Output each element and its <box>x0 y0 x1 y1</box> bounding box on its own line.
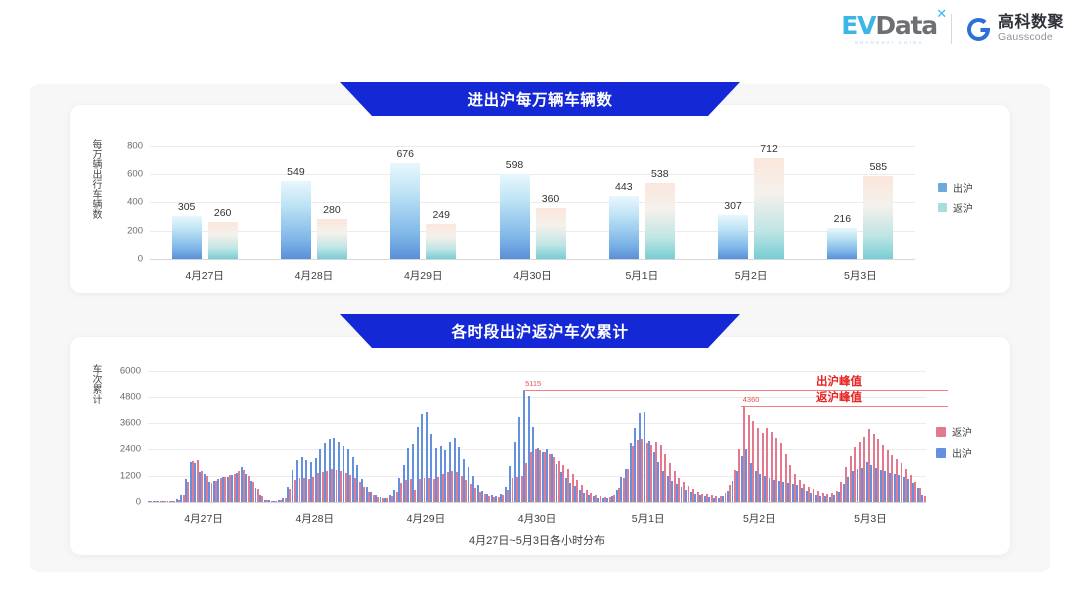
legend-label: 返沪 <box>953 200 973 215</box>
bar-chuhu <box>827 228 857 259</box>
bar-fanhu <box>536 208 566 259</box>
legend-label: 出沪 <box>952 445 972 460</box>
bar-chuhu <box>172 216 202 259</box>
chart-title-banner-bottom: 各时段出沪返沪车次累计 <box>340 314 740 348</box>
y-axis-label-top: 每万辆出行车辆数 <box>88 139 103 257</box>
x-tick-label-top: 5月3日 <box>844 268 877 283</box>
bar-fanhu <box>208 222 238 259</box>
x-tick-label-bottom: 4月29日 <box>407 511 446 526</box>
evdata-logo: EVData ✕ shanghai china <box>841 13 937 45</box>
legend-swatch <box>936 427 946 437</box>
evdata-ev-text: EV <box>841 11 875 40</box>
bar-fanhu <box>317 219 347 259</box>
x-axis-subtitle: 4月27日~5月3日各小时分布 <box>469 532 605 548</box>
peak-line-chuhu <box>523 390 948 391</box>
bar-value-chuhu: 305 <box>178 201 196 213</box>
bar-value-chuhu: 598 <box>506 159 524 171</box>
bar-value-fanhu: 585 <box>870 161 888 173</box>
chart-title-top: 进出沪每万辆车辆数 <box>468 88 613 110</box>
bar-fanhu <box>645 183 675 259</box>
legend-label: 出沪 <box>953 180 973 195</box>
y-tick-label-bottom: 0 <box>136 497 141 508</box>
legend-item-bottom[interactable]: 返沪 <box>936 424 972 439</box>
bar-chuhu <box>500 174 530 259</box>
peak-value-fanhu: 4360 <box>743 395 760 404</box>
bar-chart-bottom: 车次累计0120024003600480060004月27日4月28日4月29日… <box>148 364 926 502</box>
chart-title-banner-top: 进出沪每万辆车辆数 <box>340 82 740 116</box>
bar-value-chuhu: 216 <box>834 213 852 225</box>
y-tick-label-bottom: 2400 <box>120 444 141 455</box>
y-axis-label-bottom: 车次累计 <box>88 364 103 502</box>
bar-value-chuhu: 443 <box>615 181 633 193</box>
legend-item-bottom[interactable]: 出沪 <box>936 445 972 460</box>
x-tick-label-bottom: 4月27日 <box>184 511 223 526</box>
gridline-top <box>150 259 915 260</box>
bar-chart-top: 每万辆出行车辆数02004006008003052604月27日5492804月… <box>150 137 915 259</box>
chart-title-bottom: 各时段出沪返沪车次累计 <box>451 320 628 342</box>
bar-chuhu <box>390 163 420 259</box>
x-tick-label-top: 5月1日 <box>625 268 658 283</box>
peak-label-fanhu: 返沪峰值 <box>816 389 862 405</box>
x-tick-label-bottom: 5月3日 <box>854 511 887 526</box>
bar-value-fanhu: 712 <box>760 143 778 155</box>
y-tick-label-top: 0 <box>138 254 143 265</box>
gridline-bottom <box>148 371 926 372</box>
gridline-bottom <box>148 423 926 424</box>
evdata-x-icon: ✕ <box>936 8 946 21</box>
bar-value-fanhu: 538 <box>651 168 669 180</box>
gauss-c-icon <box>966 17 991 42</box>
gausscode-cn-name: 高科数聚 <box>998 15 1064 32</box>
gridline-top <box>150 202 915 203</box>
x-tick-label-bottom: 4月28日 <box>295 511 334 526</box>
logo-group: EVData ✕ shanghai china 高科数聚 Gausscode <box>841 13 1064 45</box>
legend-bottom: 返沪出沪 <box>936 424 972 460</box>
x-tick-label-bottom: 5月1日 <box>632 511 665 526</box>
x-tick-label-top: 4月28日 <box>295 268 334 283</box>
gridline-bottom <box>148 502 926 503</box>
legend-swatch <box>938 183 947 192</box>
bar-fanhu <box>426 224 456 259</box>
y-tick-label-bottom: 6000 <box>120 365 141 376</box>
bar-fanhu <box>863 176 893 259</box>
legend-swatch <box>938 203 947 212</box>
legend-item-top[interactable]: 出沪 <box>938 180 973 195</box>
y-tick-label-bottom: 3600 <box>120 418 141 429</box>
bar-value-fanhu: 360 <box>542 193 560 205</box>
bar-value-fanhu: 260 <box>214 207 232 219</box>
gausscode-text: 高科数聚 Gausscode <box>998 15 1064 43</box>
legend-top: 出沪返沪 <box>938 180 973 215</box>
x-tick-label-top: 4月29日 <box>404 268 443 283</box>
bar-value-chuhu: 676 <box>396 148 414 160</box>
gridline-top <box>150 174 915 175</box>
legend-label: 返沪 <box>952 424 972 439</box>
x-tick-label-top: 5月2日 <box>735 268 768 283</box>
y-tick-label-top: 400 <box>127 197 143 208</box>
gausscode-en-name: Gausscode <box>998 32 1064 43</box>
gridline-top <box>150 146 915 147</box>
bar-value-fanhu: 280 <box>323 204 341 216</box>
y-tick-label-bottom: 1200 <box>120 470 141 481</box>
x-tick-label-top: 4月27日 <box>185 268 224 283</box>
bar-value-fanhu: 249 <box>432 209 450 221</box>
evdata-data-text: Data <box>875 11 937 40</box>
gridline-bottom <box>148 397 926 398</box>
bar-value-chuhu: 307 <box>724 200 742 212</box>
legend-item-top[interactable]: 返沪 <box>938 200 973 215</box>
x-tick-label-top: 4月30日 <box>513 268 552 283</box>
evdata-wordmark: EVData ✕ <box>841 13 937 38</box>
bar-chuhu <box>718 215 748 259</box>
bar-fanhu <box>754 158 784 259</box>
y-tick-label-top: 800 <box>127 140 143 151</box>
gridline-top <box>150 231 915 232</box>
bar-value-chuhu: 549 <box>287 166 305 178</box>
gausscode-logo: 高科数聚 Gausscode <box>966 15 1064 43</box>
y-tick-label-bottom: 4800 <box>120 391 141 402</box>
x-tick-label-bottom: 4月30日 <box>518 511 557 526</box>
y-tick-label-top: 200 <box>127 225 143 236</box>
legend-swatch <box>936 448 946 458</box>
bar-chuhu <box>609 196 639 259</box>
bar-chuhu <box>281 181 311 259</box>
peak-line-fanhu <box>741 406 948 407</box>
page-header: EVData ✕ shanghai china 高科数聚 Gausscode <box>0 0 1080 62</box>
hour-bar-fanhu <box>924 496 926 502</box>
logo-divider <box>951 14 952 44</box>
peak-value-chuhu: 5115 <box>525 379 541 388</box>
y-tick-label-top: 600 <box>127 168 143 179</box>
peak-label-chuhu: 出沪峰值 <box>816 373 862 389</box>
evdata-tagline: shanghai china <box>855 40 924 45</box>
x-tick-label-bottom: 5月2日 <box>743 511 776 526</box>
